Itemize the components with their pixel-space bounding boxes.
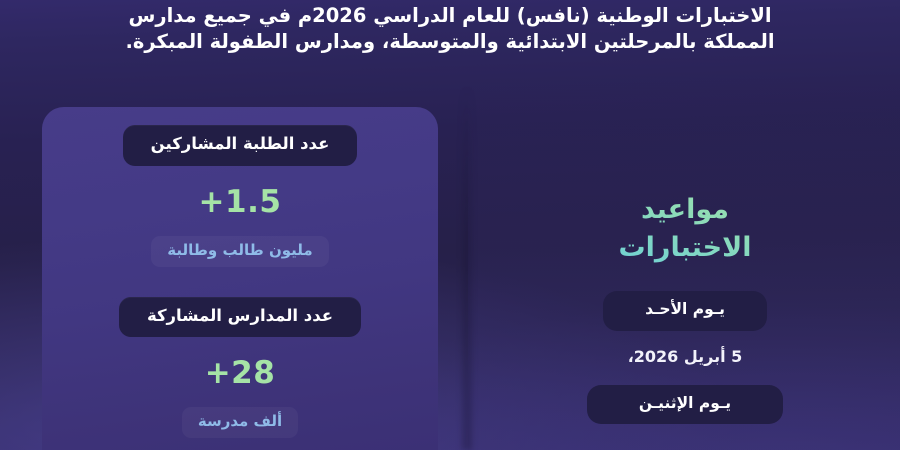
stat-block-schools: عدد المدارس المشاركة +28 ألف مدرسة	[68, 297, 412, 439]
exam-day-label-2: يـوم الإثنيـن	[587, 385, 783, 425]
stat-unit-students: مليون طالب وطالبة	[151, 236, 328, 267]
header-line-1: الاختبارات الوطنية (نافس) للعام الدراسي …	[72, 3, 828, 29]
stat-label-schools: عدد المدارس المشاركة	[119, 297, 361, 338]
stat-label-students: عدد الطلبة المشاركين	[123, 125, 358, 166]
exam-date-item-1: يـوم الأحـد 5 أبريل 2026،	[470, 291, 900, 365]
exam-day-label-1: يـوم الأحـد	[603, 291, 767, 331]
exam-dates-title-line-2: الاختبارات	[470, 229, 900, 267]
exam-dates-title-line-1: مواعيد	[641, 194, 729, 225]
exam-date-value-1: 5 أبريل 2026،	[470, 349, 900, 365]
header-line-2: المملكة بالمرحلتين الابتدائية والمتوسطة،…	[72, 29, 828, 55]
exam-dates-panel: مواعيد الاختبارات يـوم الأحـد 5 أبريل 20…	[470, 107, 900, 450]
exam-dates-title: مواعيد الاختبارات	[470, 191, 900, 267]
stat-value-schools: +28	[68, 358, 412, 389]
stat-unit-schools: ألف مدرسة	[182, 407, 298, 438]
exam-date-item-2: يـوم الإثنيـن	[470, 385, 900, 425]
stat-block-students: عدد الطلبة المشاركين +1.5 مليون طالب وطا…	[68, 125, 412, 267]
infographic-root: الاختبارات الوطنية (نافس) للعام الدراسي …	[0, 0, 900, 450]
stat-value-students: +1.5	[68, 187, 412, 218]
statistics-card: عدد الطلبة المشاركين +1.5 مليون طالب وطا…	[42, 107, 438, 450]
header-description: الاختبارات الوطنية (نافس) للعام الدراسي …	[0, 0, 900, 55]
